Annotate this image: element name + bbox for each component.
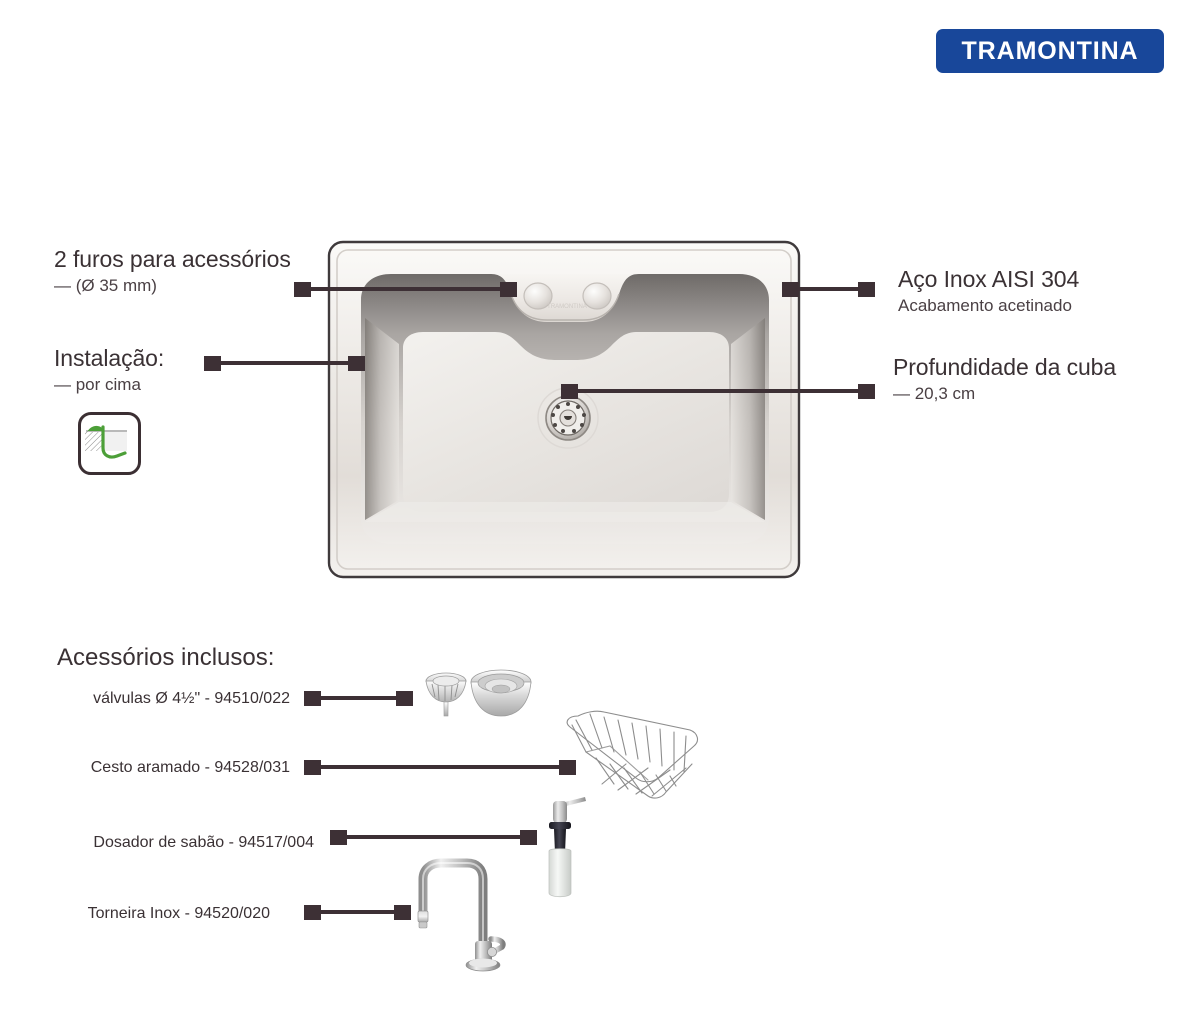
soap-dispenser-icon [537,793,593,901]
callout-tap-holes-detail: — (Ø 35 mm) [54,275,291,296]
accessory-label-soap: Dosador de sabão - 94517/004 [0,834,314,852]
callout-steel: Aço Inox AISI 304 Acabamento acetinado [898,266,1079,317]
product-spec-sheet: TRAMONTINA [0,0,1200,1028]
leader-line-tap-holes [309,287,512,291]
leader-line-steel [797,287,861,291]
leader-line-basket [319,765,562,769]
accessory-label-basket: Cesto aramado - 94528/031 [0,759,290,777]
leader-knob-depth [858,384,875,399]
callout-steel-detail: Acabamento acetinado [898,295,1079,316]
brand-logo-text: TRAMONTINA [961,37,1138,66]
callout-steel-title: Aço Inox AISI 304 [898,266,1079,292]
leader-line-valves [319,696,399,700]
accessories-title: Acessórios inclusos: [57,644,274,672]
leader-line-soap [345,835,523,839]
top-mount-icon [78,412,141,475]
brand-logo: TRAMONTINA [936,29,1164,73]
callout-depth-detail: — 20,3 cm [893,383,1116,404]
callout-tap-holes-title: 2 furos para acessórios [54,246,291,272]
callout-installation-title: Instalação: [54,345,164,371]
faucet-icon [405,853,515,975]
leader-line-depth [576,389,861,393]
callout-installation: Instalação: — por cima [54,345,164,396]
accessory-label-valves: válvulas Ø 4½" - 94510/022 [0,690,290,708]
callout-installation-detail: — por cima [54,374,164,395]
leader-knob-soap [520,830,537,845]
drain-valve-icon [418,664,538,726]
leader-line-installation [219,361,351,365]
svg-text:TRAMONTINA: TRAMONTINA [547,304,587,310]
leader-knob-tap-holes-end [500,282,517,297]
callout-depth: Profundidade da cuba — 20,3 cm [893,354,1116,405]
leader-line-faucet [319,910,397,914]
accessory-label-faucet: Torneira Inox - 94520/020 [0,905,270,923]
leader-knob-installation-end [348,356,365,371]
leader-knob-valves [396,691,413,706]
callout-tap-holes: 2 furos para acessórios — (Ø 35 mm) [54,246,291,297]
callout-depth-title: Profundidade da cuba [893,354,1116,380]
leader-knob-steel [858,282,875,297]
wire-basket-icon [552,692,712,802]
